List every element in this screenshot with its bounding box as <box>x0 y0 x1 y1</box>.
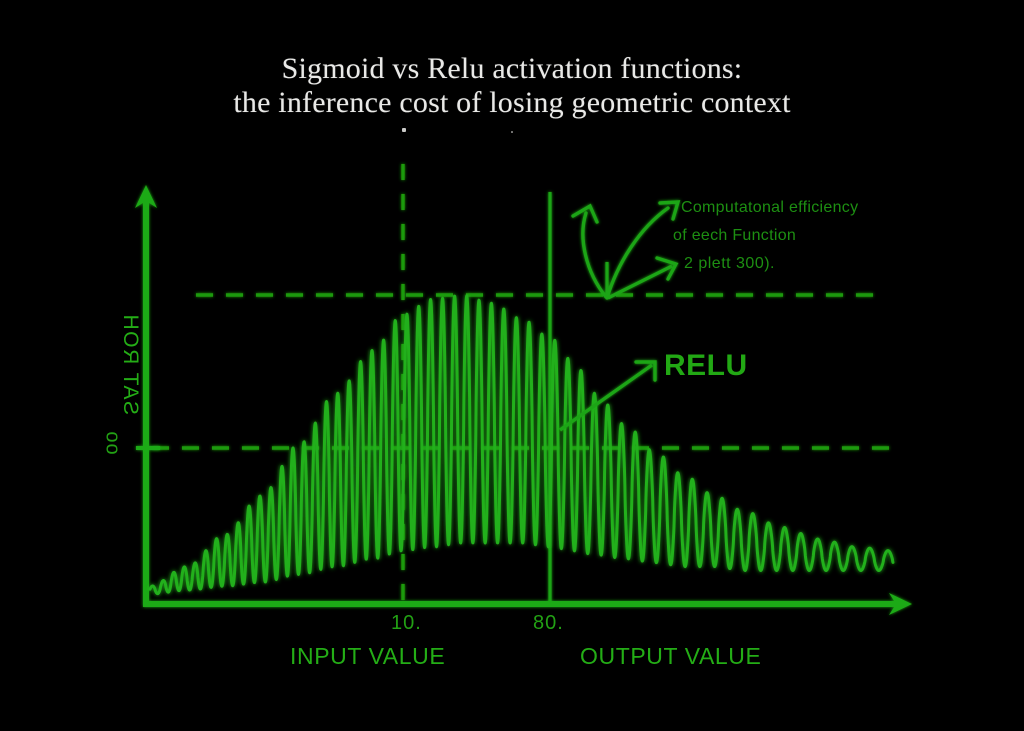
annotation-pointers <box>573 202 678 298</box>
title-speck-mark <box>402 128 406 132</box>
plot-graphics <box>0 0 1024 731</box>
curved-arrow-left <box>583 213 606 297</box>
plot-canvas: Sigmoid vs Relu activation functions: th… <box>0 0 1024 731</box>
oscillation-path <box>150 296 893 594</box>
waveform-series <box>150 296 893 594</box>
